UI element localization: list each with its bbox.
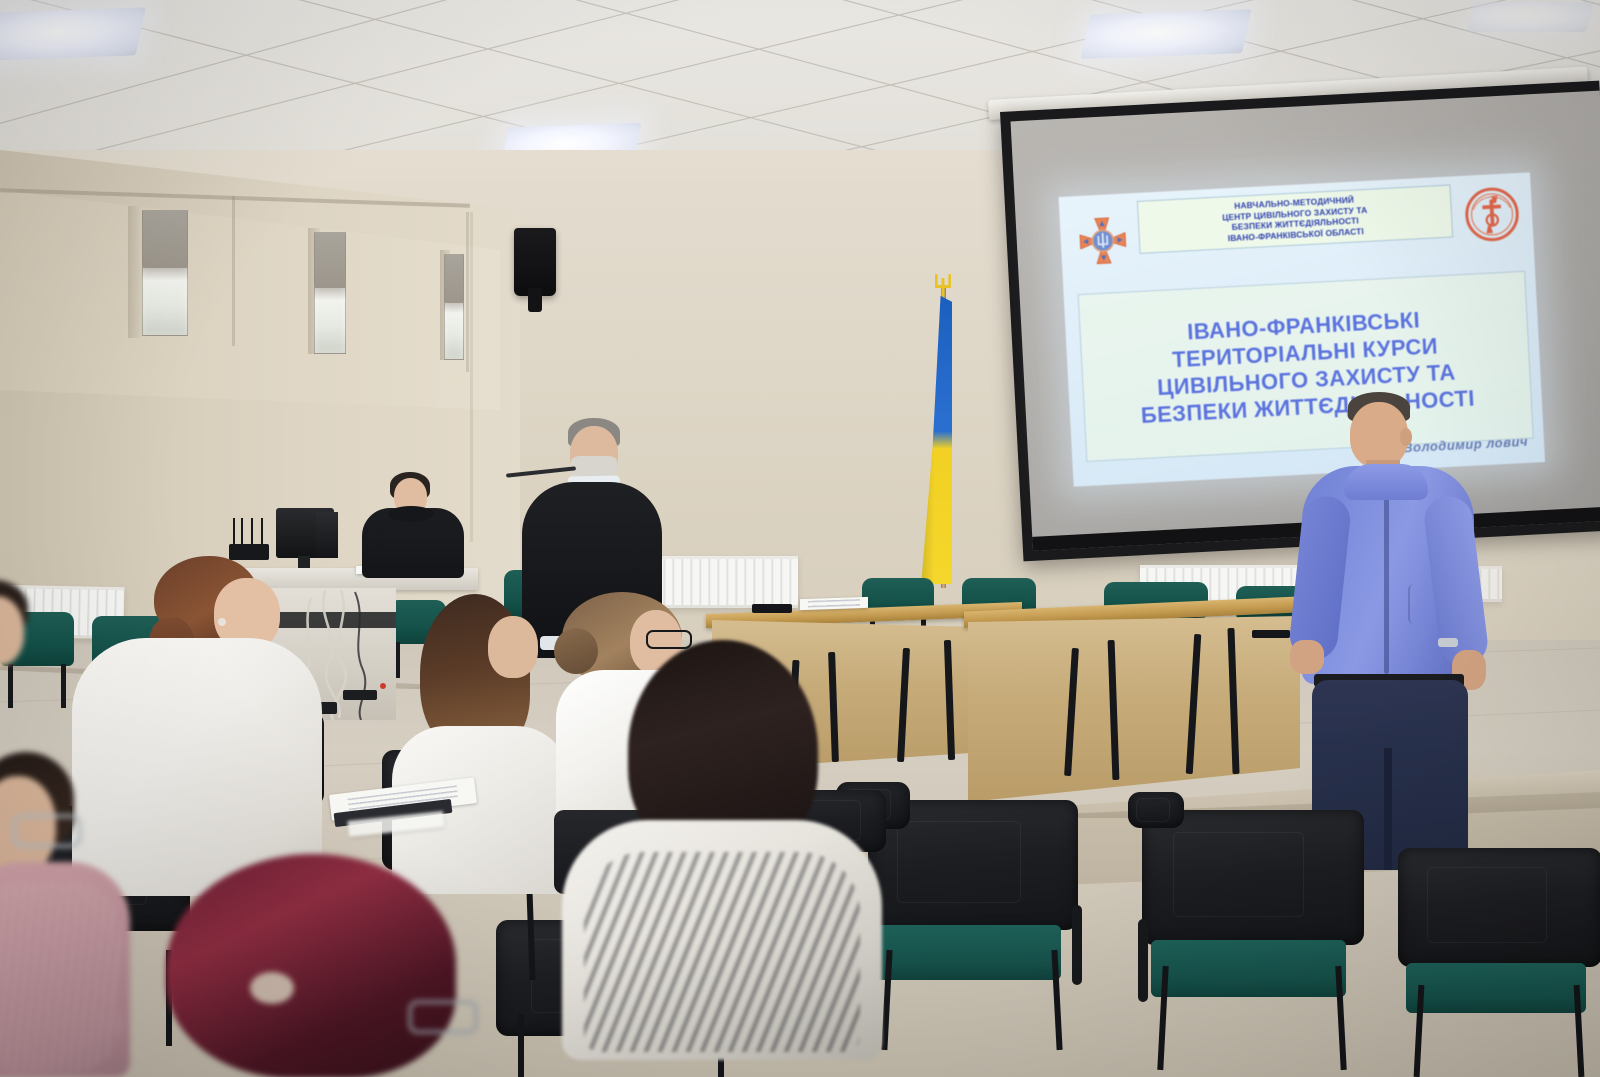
window-left-3 bbox=[444, 254, 464, 360]
window-left-1 bbox=[142, 210, 188, 336]
window-blind-1 bbox=[143, 211, 187, 268]
window-reveal-1 bbox=[128, 206, 142, 338]
left-hand bbox=[1290, 640, 1324, 674]
attendee-glasses-foreground bbox=[0, 580, 30, 700]
fleece-zip bbox=[1384, 484, 1389, 674]
slide-header-textbox: НАВЧАЛЬНО-МЕТОДИЧНИЙ ЦЕНТР ЦИВІЛЬНОГО ЗА… bbox=[1137, 185, 1453, 255]
hair bbox=[166, 854, 456, 1077]
audience-chair-3[interactable] bbox=[1398, 848, 1600, 1077]
window-blind-3 bbox=[445, 255, 463, 303]
paper-text-lines bbox=[808, 600, 860, 608]
golden-trident-finial bbox=[930, 272, 956, 298]
presenter-blue-fleece-man bbox=[1288, 388, 1480, 868]
window-left-2 bbox=[314, 232, 346, 354]
attendee-burgundy-hair-woman bbox=[144, 854, 474, 1077]
chair-back bbox=[1128, 792, 1184, 828]
audience-chair-5[interactable] bbox=[1128, 792, 1184, 862]
head bbox=[488, 616, 538, 678]
ceiling-light-3 bbox=[1081, 9, 1252, 59]
chair-frame bbox=[1142, 966, 1364, 1070]
hair-tie bbox=[250, 972, 294, 1004]
chair-back bbox=[1398, 848, 1600, 967]
window-blind-2 bbox=[315, 233, 345, 288]
technician-young-man bbox=[362, 472, 464, 576]
round-seal-emblem bbox=[1463, 185, 1522, 244]
chair-frame bbox=[1398, 985, 1600, 1077]
photo-scene: НАВЧАЛЬНО-МЕТОДИЧНИЙ ЦЕНТР ЦИВІЛЬНОГО ЗА… bbox=[0, 0, 1600, 1077]
smartphone-on-table[interactable] bbox=[752, 604, 792, 613]
sweater-knit-texture bbox=[0, 882, 120, 1072]
wall-corner-2 bbox=[466, 212, 469, 372]
ear bbox=[1400, 428, 1412, 446]
wall-speaker bbox=[514, 228, 556, 296]
wall-corner-1 bbox=[232, 196, 235, 346]
hood-collar bbox=[388, 506, 434, 522]
eyeglasses bbox=[408, 1000, 478, 1034]
top-pattern bbox=[584, 852, 860, 1052]
fleece-collar bbox=[1344, 464, 1428, 500]
chair-frame bbox=[868, 950, 1078, 1050]
ceiling-light-1 bbox=[0, 7, 146, 60]
phone-on-right-table[interactable] bbox=[1252, 630, 1290, 638]
wristwatch bbox=[1438, 638, 1458, 647]
dsns-cross-emblem bbox=[1076, 213, 1131, 268]
attendee-dark-hair-woman bbox=[562, 640, 892, 1060]
slide-header-band: НАВЧАЛЬНО-МЕТОДИЧНИЙ ЦЕНТР ЦИВІЛЬНОГО ЗА… bbox=[1059, 172, 1535, 289]
eyeglasses bbox=[12, 814, 82, 848]
ceiling-light-4 bbox=[1466, 2, 1593, 32]
attendee-pink-sweater-person bbox=[0, 752, 140, 1077]
pc-tower bbox=[316, 512, 338, 558]
ear-earring bbox=[218, 618, 226, 626]
wall-corner-3 bbox=[470, 212, 473, 542]
jeans-leg-split bbox=[1384, 748, 1392, 870]
